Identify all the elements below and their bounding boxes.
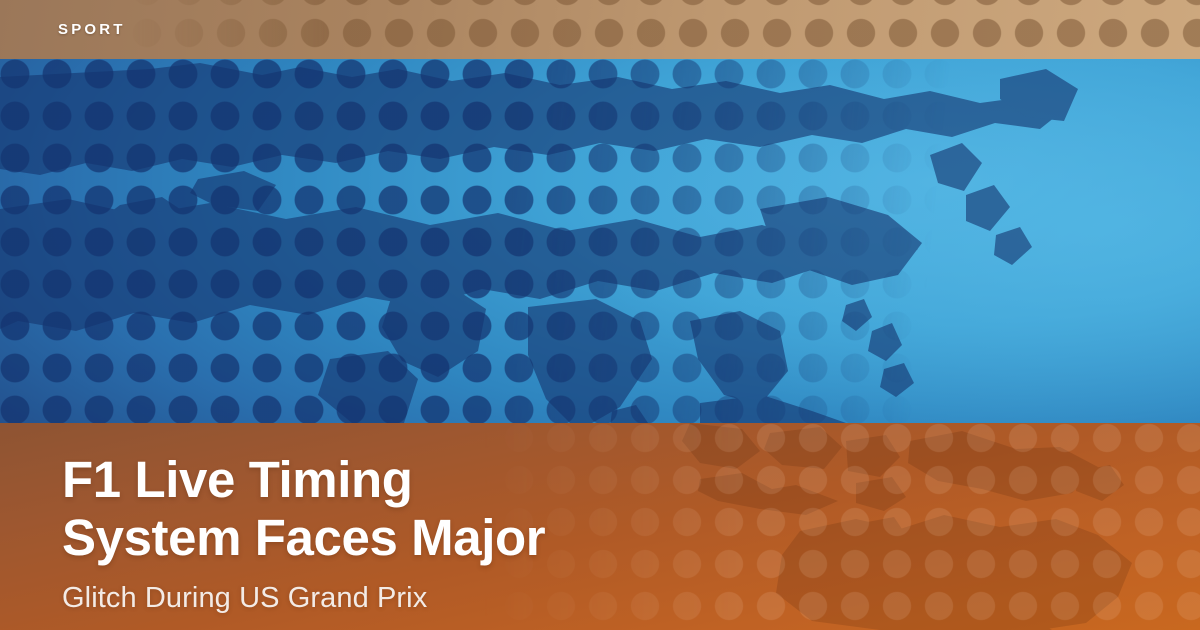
page-title: F1 Live Timing System Faces Major <box>62 451 822 567</box>
page-subtitle: Glitch During US Grand Prix <box>62 580 427 616</box>
headline-line-2: System Faces Major <box>62 509 822 567</box>
halftone-dot-pattern-top <box>0 0 1200 59</box>
category-kicker: SPORT <box>58 22 126 37</box>
headline-line-1: F1 Live Timing <box>62 451 413 508</box>
kicker-band: SPORT <box>0 0 1200 59</box>
map-band <box>0 59 1200 423</box>
social-share-card: SPORT <box>0 0 1200 630</box>
